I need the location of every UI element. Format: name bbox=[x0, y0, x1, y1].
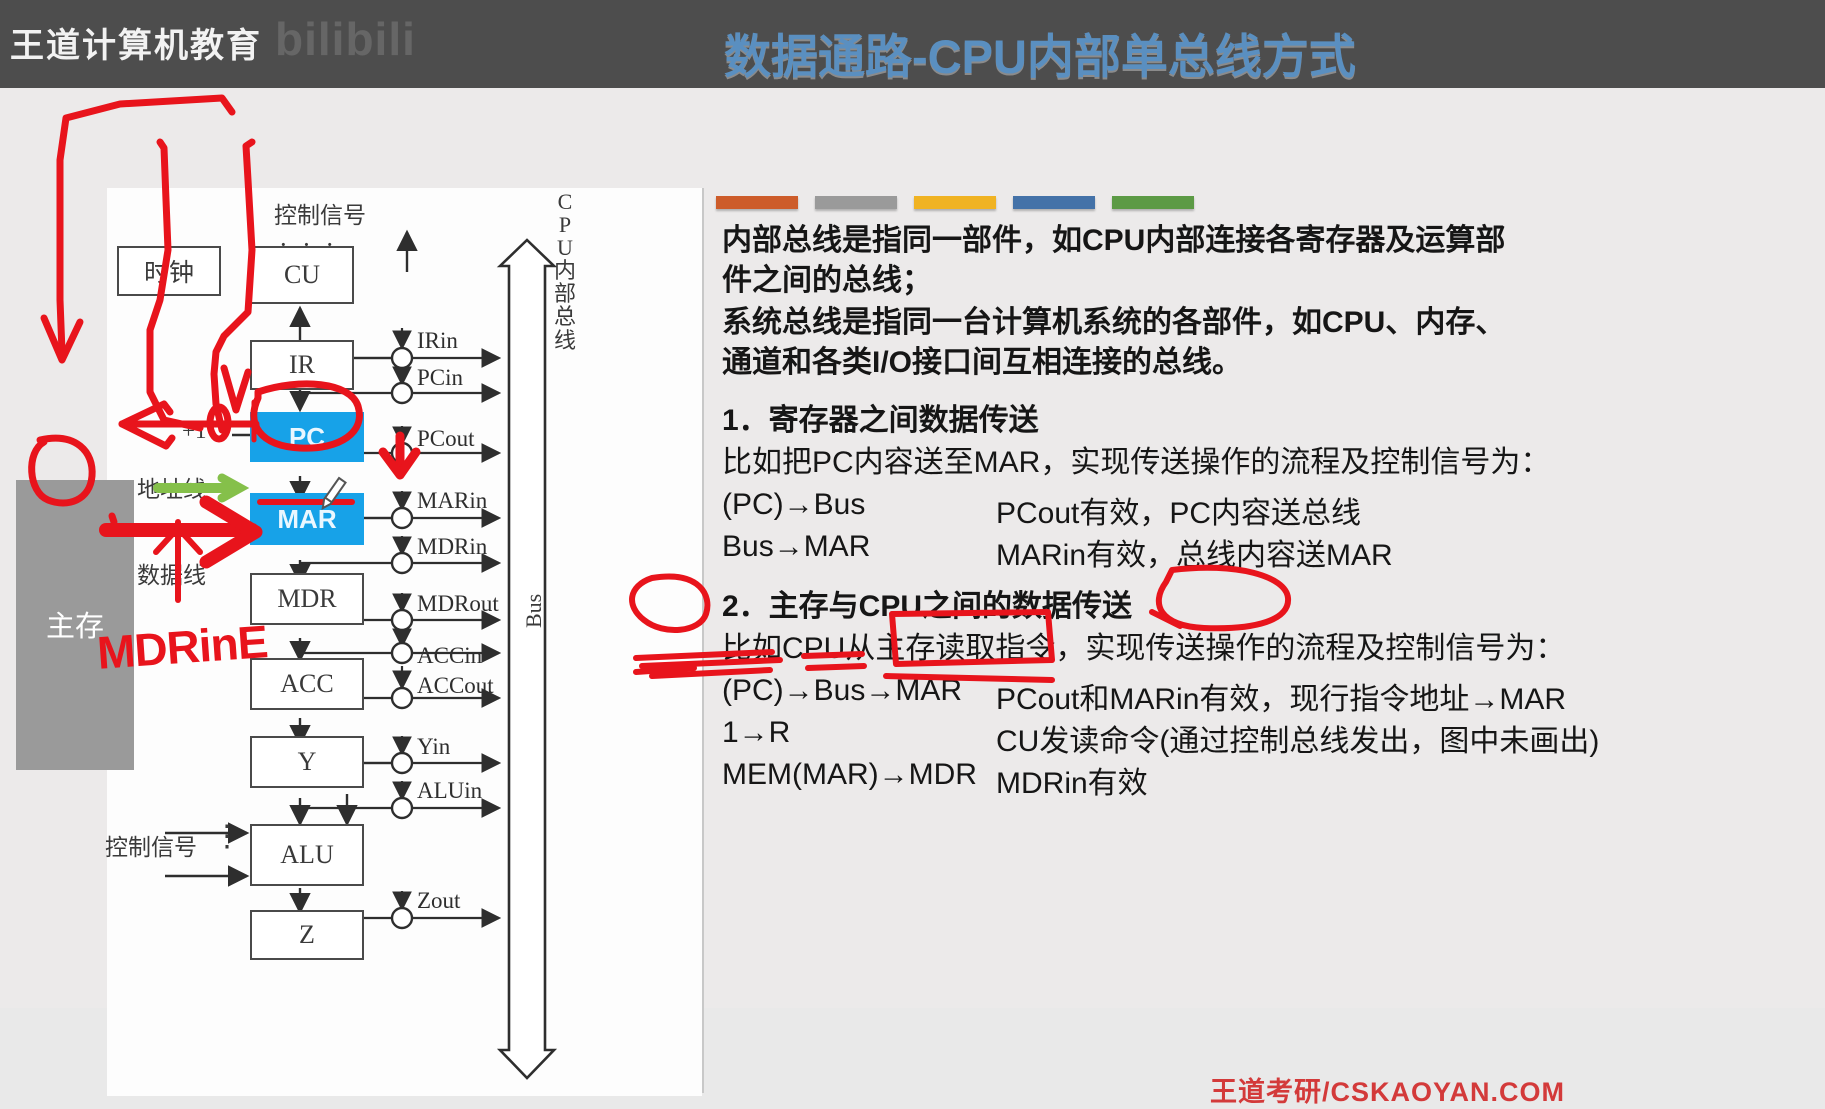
cpu-internal-bus-label: CPU内部总线 bbox=[552, 190, 578, 352]
signal-pcin: PCin bbox=[417, 365, 463, 391]
signal-zout: Zout bbox=[417, 888, 460, 914]
bilibili-watermark: bilibili bbox=[275, 12, 416, 66]
signal-aluin: ALUin bbox=[417, 778, 482, 804]
mdr-box: MDR bbox=[250, 573, 364, 625]
clock-box: 时钟 bbox=[117, 246, 221, 296]
control-signal-bottom-label: 控制信号 bbox=[105, 828, 197, 862]
content-panel: 内部总线是指同一部件，如CPU内部连接各寄存器及运算部 件之间的总线； 系统总线… bbox=[716, 188, 1816, 1088]
ir-box: IR bbox=[250, 340, 354, 390]
brand-logo: 王道计算机教育 bbox=[10, 18, 262, 67]
control-signal-top-label: 控制信号 bbox=[274, 196, 366, 230]
section-2-row-2-left: MEM(MAR)→MDR bbox=[722, 758, 977, 792]
cu-box: CU bbox=[250, 246, 354, 304]
section-2-title: 2．主存与CPU之间的数据传送 bbox=[722, 588, 1132, 626]
intro-line-1: 内部总线是指同一部件，如CPU内部连接各寄存器及运算部 bbox=[722, 222, 1505, 260]
accent-bar bbox=[716, 196, 1194, 209]
accent-swatch-gray bbox=[815, 196, 897, 209]
signal-mdrin: MDRin bbox=[417, 534, 487, 560]
signal-yin: Yin bbox=[417, 734, 450, 760]
section-1-desc: 比如把PC内容送至MAR，实现传送操作的流程及控制信号为： bbox=[722, 444, 1550, 482]
intro-line-4: 通道和各类I/O接口间互相连接的总线。 bbox=[722, 344, 1242, 382]
plus-one-label: +1 bbox=[182, 418, 206, 444]
section-2-row-0-left: (PC)→Bus→MAR bbox=[722, 674, 962, 708]
alu-dots: ⋮ bbox=[212, 826, 242, 847]
pc-box: PC bbox=[250, 412, 364, 462]
z-box: Z bbox=[250, 910, 364, 960]
section-2-desc: 比如CPU从主存读取指令，实现传送操作的流程及控制信号为： bbox=[722, 630, 1565, 668]
accent-swatch-blue bbox=[1013, 196, 1095, 209]
alu-box: ALU bbox=[250, 824, 364, 886]
bus-vertical-label: Bus bbox=[521, 594, 547, 628]
section-2-row-2-right: MDRin有效 bbox=[996, 758, 1148, 802]
section-2-row-1-left: 1→R bbox=[722, 716, 790, 750]
signal-accout: ACCout bbox=[417, 673, 494, 699]
accent-swatch-orange bbox=[716, 196, 798, 209]
section-1-row-0-right: PCout有效，PC内容送总线 bbox=[996, 488, 1361, 532]
intro-line-3: 系统总线是指同一台计算机系统的各部件，如CPU、内存、 bbox=[722, 304, 1505, 342]
data-line-label: 数据线 bbox=[137, 556, 206, 590]
section-1-row-1-left: Bus→MAR bbox=[722, 530, 870, 564]
section-2-row-0-right: PCout和MARin有效，现行指令地址→MAR bbox=[996, 674, 1566, 718]
address-line-label: 地址线 bbox=[137, 470, 206, 504]
accent-swatch-green bbox=[1112, 196, 1194, 209]
signal-irin: IRin bbox=[417, 328, 458, 354]
section-2-row-1-right: CU发读命令(通过控制总线发出，图中未画出) bbox=[996, 716, 1599, 760]
footer-branding: 王道考研/CSKAOYAN.COM bbox=[1210, 1070, 1565, 1109]
intro-line-2: 件之间的总线； bbox=[722, 262, 932, 300]
section-1-row-1-right: MARin有效，总线内容送MAR bbox=[996, 530, 1393, 574]
slide-body: 控制信号 · · · 时钟 CU IR PC MAR MDR ACC Y ALU… bbox=[0, 88, 1825, 1008]
signal-pcout: PCout bbox=[417, 426, 475, 452]
panel-divider bbox=[702, 188, 704, 1093]
signal-accin: ACCin bbox=[417, 643, 482, 669]
y-box: Y bbox=[250, 736, 364, 788]
accent-swatch-yellow bbox=[914, 196, 996, 209]
page-title: 数据通路-CPU内部单总线方式 bbox=[560, 18, 1520, 87]
signal-marin: MARin bbox=[417, 488, 487, 514]
mar-box: MAR bbox=[250, 493, 364, 545]
signal-mdrout: MDRout bbox=[417, 591, 499, 617]
section-1-title: 1．寄存器之间数据传送 bbox=[722, 402, 1039, 440]
section-1-row-0-left: (PC)→Bus bbox=[722, 488, 865, 522]
